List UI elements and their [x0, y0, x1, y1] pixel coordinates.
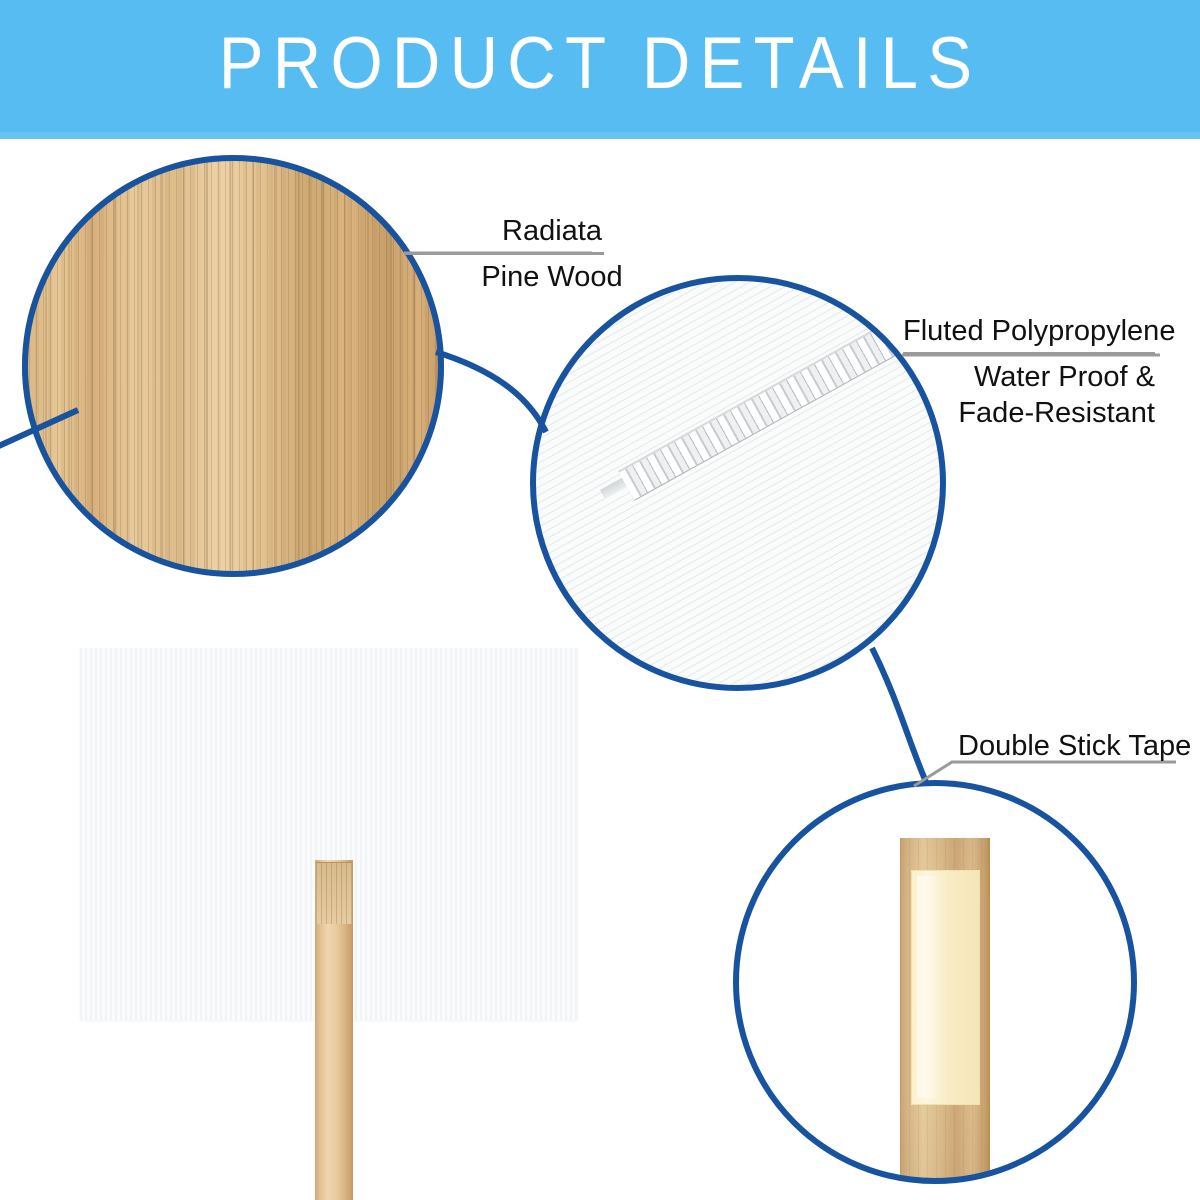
callout-polypropylene: Fluted Polypropylene Water Proof & Fade-…: [903, 313, 1155, 431]
callout-wood-subtitle: Pine Wood: [452, 259, 652, 295]
callout-wood: Radiata Pine Wood: [452, 213, 652, 295]
callout-polypropylene-title: Fluted Polypropylene: [903, 313, 1155, 349]
callout-tape-title: Double Stick Tape: [958, 728, 1173, 764]
header-banner-edge: [0, 132, 1200, 139]
callout-wood-rule: [404, 252, 604, 255]
fluted-sheet-circle-icon: [530, 275, 946, 691]
page-title: PRODUCT DETAILS: [48, 21, 1152, 107]
callout-tape: Double Stick Tape: [958, 728, 1173, 764]
callout-wood-title: Radiata: [452, 213, 652, 249]
callout-polypropylene-subtitle: Water Proof &: [903, 359, 1155, 395]
stake-tape-circle-icon: [735, 780, 1135, 1180]
tape-strip-highlight: [917, 876, 943, 1098]
wood-grain-circle-icon: [22, 155, 444, 577]
callout-polypropylene-subtitle-2: Fade-Resistant: [903, 395, 1155, 431]
product-details-infographic: PRODUCT DETAILS: [0, 0, 1200, 1200]
callout-polypropylene-rule: [903, 352, 1155, 355]
connector-poly-to-tape: [872, 648, 926, 782]
product-wood-stake-top-end: [316, 862, 352, 924]
